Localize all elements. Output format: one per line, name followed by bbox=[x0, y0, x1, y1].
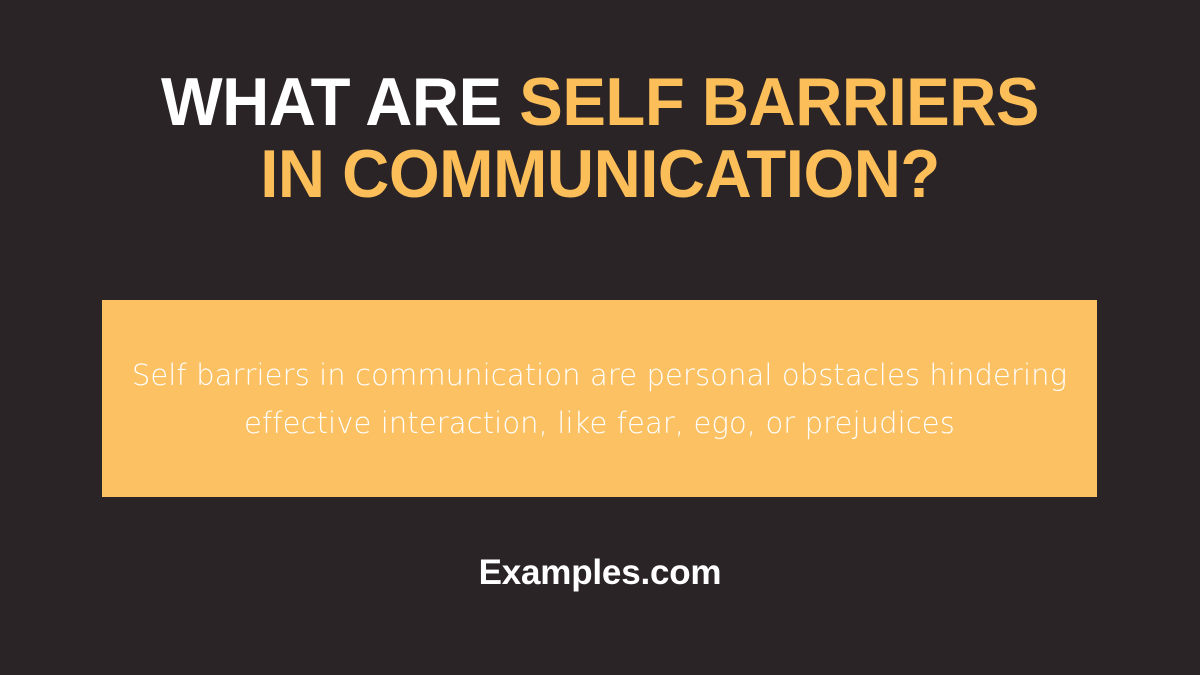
brand-watermark: Examples.com bbox=[0, 551, 1200, 595]
title-segment-plain: WHAT ARE bbox=[161, 64, 519, 140]
definition-callout-box: Self barriers in communication are perso… bbox=[102, 300, 1097, 497]
definition-text: Self barriers in communication are perso… bbox=[124, 351, 1075, 447]
title-line-2: IN COMMUNICATION? bbox=[24, 140, 1176, 208]
infographic-card: WHAT ARE SELF BARRIERS IN COMMUNICATION?… bbox=[0, 0, 1200, 675]
title-line-1: WHAT ARE SELF BARRIERS bbox=[24, 68, 1176, 136]
title-segment-accent: SELF BARRIERS bbox=[519, 64, 1039, 140]
page-title: WHAT ARE SELF BARRIERS IN COMMUNICATION? bbox=[0, 68, 1200, 208]
